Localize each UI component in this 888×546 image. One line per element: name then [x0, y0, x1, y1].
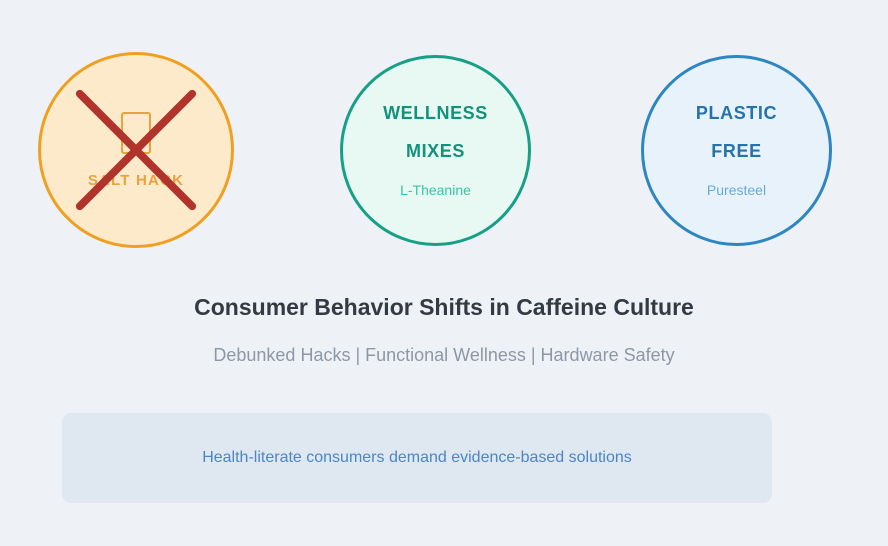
badge-plastic-title-line2: FREE: [711, 142, 761, 160]
badge-plastic-title-line1: PLASTIC: [696, 104, 777, 122]
badge-row: SALT HACK WELLNESS MIXES L-Theanine PLAS…: [0, 0, 888, 262]
insight-banner-text: Health-literate consumers demand evidenc…: [202, 449, 632, 467]
badge-plastic-subtitle: Puresteel: [707, 182, 766, 198]
badge-salt-hack-label: SALT HACK: [88, 172, 184, 189]
shaker-outline-icon: [121, 112, 151, 154]
badge-plastic-free[interactable]: PLASTIC FREE Puresteel: [641, 55, 832, 246]
insight-banner: Health-literate consumers demand evidenc…: [62, 413, 772, 503]
badge-salt-hack[interactable]: SALT HACK: [38, 52, 234, 248]
badge-wellness-subtitle: L-Theanine: [400, 182, 471, 198]
page-title: Consumer Behavior Shifts in Caffeine Cul…: [0, 294, 888, 321]
badge-wellness-mixes[interactable]: WELLNESS MIXES L-Theanine: [340, 55, 531, 246]
badge-wellness-title-line1: WELLNESS: [383, 104, 488, 122]
badge-wellness-title-line2: MIXES: [406, 142, 465, 160]
page-subtitle: Debunked Hacks | Functional Wellness | H…: [0, 345, 888, 366]
badge-salt-hack-content: SALT HACK: [41, 55, 231, 245]
